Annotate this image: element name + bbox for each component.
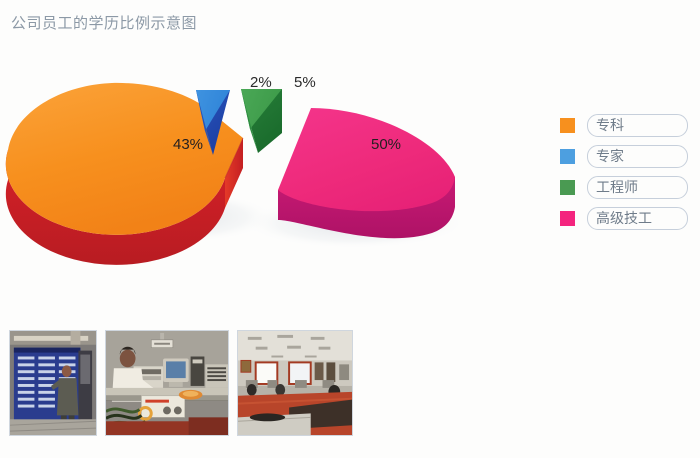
photo-office-hall-image [238, 331, 352, 435]
legend-label-gaojijigong: 高级技工 [596, 210, 652, 228]
legend-item-gaojijigong[interactable]: 高级技工 [558, 208, 694, 239]
page-title: 公司员工的学历比例示意图 [11, 12, 197, 33]
slice-label-orange: 43% [173, 136, 203, 153]
photo-control-panel [9, 330, 97, 436]
legend-swatch-icon-blue [560, 149, 575, 164]
pie-chart: 43% 2% 5% 50% [0, 45, 545, 295]
slice-label-pink: 50% [371, 136, 401, 153]
legend-label-zhuanke: 专科 [596, 117, 624, 135]
legend-label-gongchengshi: 工程师 [596, 179, 638, 197]
photo-test-workstation-image [106, 331, 228, 435]
legend-item-zhuanke[interactable]: 专科 [558, 115, 694, 146]
legend-swatch-icon-pink [560, 211, 575, 226]
photo-office-hall [237, 330, 353, 436]
photo-test-workstation [105, 330, 229, 436]
legend-item-gongchengshi[interactable]: 工程师 [558, 177, 694, 208]
pie-slice-green [241, 89, 282, 153]
chart-legend: 专科 专家 工程师 高级技工 [558, 115, 694, 239]
legend-item-zhuanjia[interactable]: 专家 [558, 146, 694, 177]
pie-slice-pink [278, 108, 455, 238]
photo-strip [0, 330, 700, 445]
photo-control-panel-image [10, 331, 96, 435]
legend-label-zhuanjia: 专家 [596, 148, 624, 166]
legend-swatch-icon-orange [560, 118, 575, 133]
slice-label-green: 5% [294, 74, 316, 91]
slice-label-blue: 2% [250, 74, 272, 91]
legend-swatch-icon-green [560, 180, 575, 195]
poster-page: 公司员工的学历比例示意图 [0, 0, 700, 458]
pie-chart-graphic [0, 45, 545, 295]
